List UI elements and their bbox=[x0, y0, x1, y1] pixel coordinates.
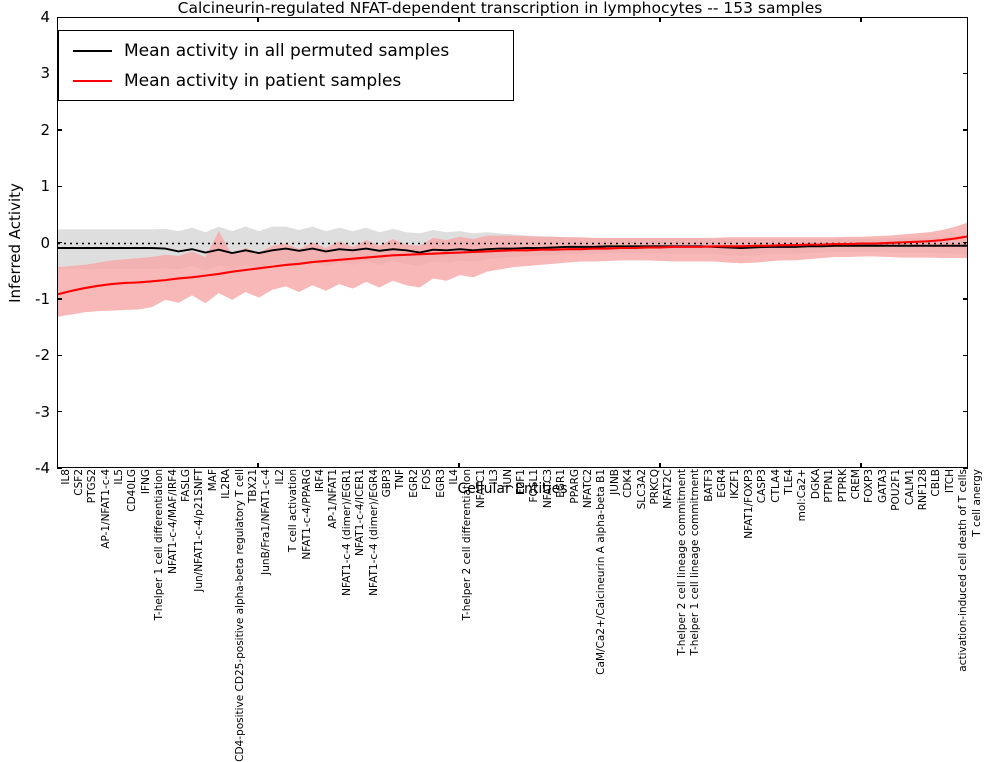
legend-label-patient: Mean activity in patient samples bbox=[124, 71, 401, 91]
x-tick-mark bbox=[659, 463, 660, 468]
y-axis-label: Inferred Activity bbox=[6, 183, 24, 303]
y-tick-mark bbox=[57, 298, 62, 299]
x-tick-mark bbox=[257, 463, 258, 468]
legend-item-permuted: Mean activity in all permuted samples bbox=[73, 38, 449, 64]
x-axis-label: Cellular Entities bbox=[57, 481, 968, 497]
y-tick-mark bbox=[57, 129, 62, 130]
x-category-label: activation-induced cell death of T cells bbox=[958, 469, 969, 672]
y-tick-mark bbox=[963, 73, 968, 74]
y-tick-mark bbox=[57, 186, 62, 187]
x-tick-mark bbox=[458, 17, 459, 22]
y-tick-mark bbox=[57, 242, 62, 243]
legend-label-permuted: Mean activity in all permuted samples bbox=[124, 41, 449, 61]
y-tick-mark bbox=[963, 298, 968, 299]
x-tick-mark bbox=[458, 463, 459, 468]
legend-swatch-permuted bbox=[73, 50, 112, 52]
y-tick-label: -2 bbox=[14, 346, 50, 364]
y-tick-label: -4 bbox=[14, 459, 50, 477]
y-tick-mark bbox=[963, 17, 968, 18]
x-tick-mark bbox=[860, 463, 861, 468]
chart-legend: Mean activity in all permuted samples Me… bbox=[58, 30, 514, 101]
y-tick-mark bbox=[963, 411, 968, 412]
legend-item-patient: Mean activity in patient samples bbox=[73, 68, 401, 94]
y-tick-label: -3 bbox=[14, 403, 50, 421]
y-tick-mark bbox=[963, 242, 968, 243]
y-tick-mark bbox=[57, 355, 62, 356]
y-tick-mark bbox=[57, 411, 62, 412]
y-tick-mark bbox=[963, 129, 968, 130]
x-category-label: CD4-positive CD25-positive alpha-beta re… bbox=[235, 469, 246, 762]
y-tick-label: 3 bbox=[14, 64, 50, 82]
legend-swatch-patient bbox=[73, 80, 112, 82]
x-tick-mark bbox=[659, 17, 660, 22]
y-tick-label: 2 bbox=[14, 121, 50, 139]
y-tick-mark bbox=[963, 186, 968, 187]
y-tick-mark bbox=[963, 355, 968, 356]
x-category-label: T cell anergy bbox=[972, 469, 983, 537]
y-tick-label: 4 bbox=[14, 8, 50, 26]
chart-figure: Calcineurin-regulated NFAT-dependent tra… bbox=[0, 0, 1000, 500]
x-category-label: NFAT1/FOXP3 bbox=[744, 469, 755, 539]
x-category-label: AP-1/NFAT1 bbox=[328, 469, 339, 529]
x-tick-mark bbox=[860, 17, 861, 22]
y-tick-mark bbox=[57, 17, 62, 18]
chart-title: Calcineurin-regulated NFAT-dependent tra… bbox=[0, 0, 1000, 17]
x-tick-mark bbox=[257, 17, 258, 22]
